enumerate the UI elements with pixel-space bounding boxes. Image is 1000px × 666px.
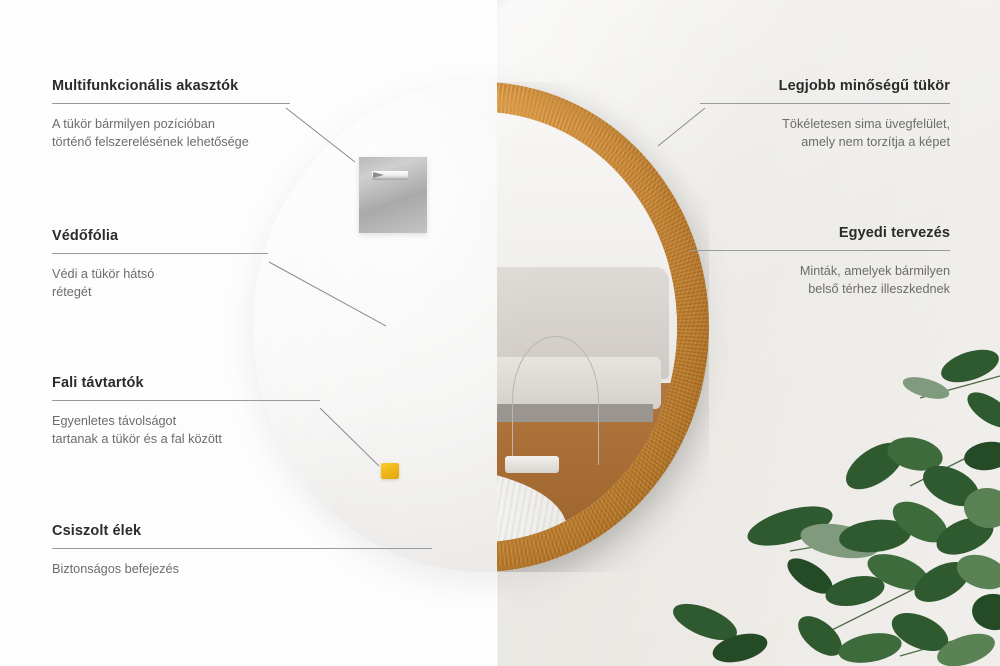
callout-edges-body: Biztonságos befejezés (52, 560, 432, 578)
callout-spacers-body: Egyenletes távolságot tartanak a tükör é… (52, 412, 320, 448)
callout-quality-mirror-title: Legjobb minőségű tükör (700, 78, 950, 94)
callout-quality-mirror: Legjobb minőségű tükör Tökéletesen sima … (700, 78, 950, 151)
reflected-lamp-base (505, 456, 560, 473)
callout-hangers-title: Multifunkcionális akasztók (52, 78, 290, 94)
callout-unique-design-rule (690, 250, 950, 251)
reflected-room (497, 112, 677, 542)
infographic-stage: Multifunkcionális akasztók A tükör bármi… (0, 0, 1000, 666)
callout-unique-design-title: Egyedi tervezés (690, 225, 950, 241)
callout-spacers-rule (52, 400, 320, 401)
callout-foil-rule (52, 253, 268, 254)
wall-spacer (381, 463, 399, 479)
callout-hangers-rule (52, 103, 290, 104)
callout-unique-design: Egyedi tervezés Minták, amelyek bármilye… (690, 225, 950, 298)
hanger-keyhole-slot (372, 171, 408, 180)
callout-edges-title: Csiszolt élek (52, 523, 432, 539)
callout-foil-body: Védi a tükör hátsó rétegét (52, 265, 268, 301)
callout-hangers-body: A tükör bármilyen pozícióban történő fel… (52, 115, 290, 151)
foliage-decoration (670, 336, 1000, 666)
callout-quality-mirror-rule (700, 103, 950, 104)
callout-edges-rule (52, 548, 432, 549)
mirror-glass (497, 112, 677, 542)
callout-foil-title: Védőfólia (52, 228, 268, 244)
callout-quality-mirror-body: Tökéletesen sima üvegfelület, amely nem … (700, 115, 950, 151)
round-mirror (253, 82, 709, 572)
callout-unique-design-body: Minták, amelyek bármilyen belső térhez i… (690, 262, 950, 298)
reflected-arc-lamp (512, 336, 598, 465)
callout-spacers: Fali távtartók Egyenletes távolságot tar… (52, 375, 320, 448)
callout-spacers-title: Fali távtartók (52, 375, 320, 391)
hanger-plate (359, 157, 427, 233)
callout-hangers: Multifunkcionális akasztók A tükör bármi… (52, 78, 290, 151)
callout-foil: Védőfólia Védi a tükör hátsó rétegét (52, 228, 268, 301)
callout-edges: Csiszolt élek Biztonságos befejezés (52, 523, 432, 578)
